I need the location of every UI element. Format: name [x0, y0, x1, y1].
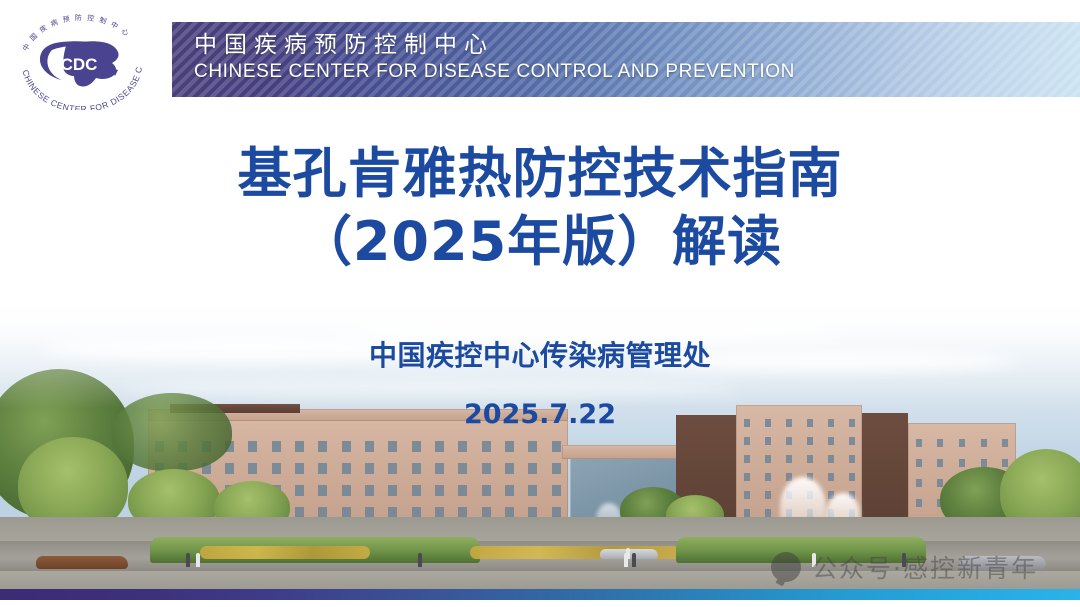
wechat-bubble-icon [771, 552, 801, 582]
header-banner-text: 中国疾病预防控制中心 CHINESE CENTER FOR DISEASE CO… [194, 29, 795, 85]
cdc-logo: 中国疾病预防控制中心 CHINESE CENTER FOR DISEASE CO… [6, 6, 158, 110]
campus-photo [0, 288, 1080, 589]
presentation-date: 2025.7.22 [0, 398, 1080, 432]
title-line-2: （2025年版）解读 [0, 208, 1080, 276]
car [36, 556, 128, 569]
slide-subtitle: 中国疾控中心传染病管理处 2025.7.22 [0, 338, 1080, 432]
pedestrian [196, 553, 200, 567]
bottom-accent-bar [0, 589, 1080, 600]
pedestrian [632, 553, 636, 567]
watermark: 公众号·感控新青年 [771, 549, 1038, 585]
pedestrian [626, 548, 630, 559]
flower-bed [200, 546, 370, 559]
slide-header: 中国疾病预防控制中心 CHINESE CENTER FOR DISEASE CO… [0, 0, 1080, 116]
watermark-text: 公众号·感控新青年 [812, 549, 1038, 585]
pedestrian [186, 553, 190, 567]
pedestrian [418, 553, 422, 567]
org-name-cn: 中国疾病预防控制中心 [194, 29, 795, 59]
svg-text:CDC: CDC [61, 55, 98, 74]
slide-title: 基孔肯雅热防控技术指南 （2025年版）解读 [0, 140, 1080, 276]
header-banner: 中国疾病预防控制中心 CHINESE CENTER FOR DISEASE CO… [172, 22, 1080, 97]
presentation-slide: 中国疾病预防控制中心 CHINESE CENTER FOR DISEASE CO… [0, 0, 1080, 607]
bottom-margin [0, 600, 1080, 607]
title-line-1: 基孔肯雅热防控技术指南 [0, 140, 1080, 208]
org-name-en: CHINESE CENTER FOR DISEASE CONTROL AND P… [194, 59, 795, 85]
department-name: 中国疾控中心传染病管理处 [0, 338, 1080, 374]
